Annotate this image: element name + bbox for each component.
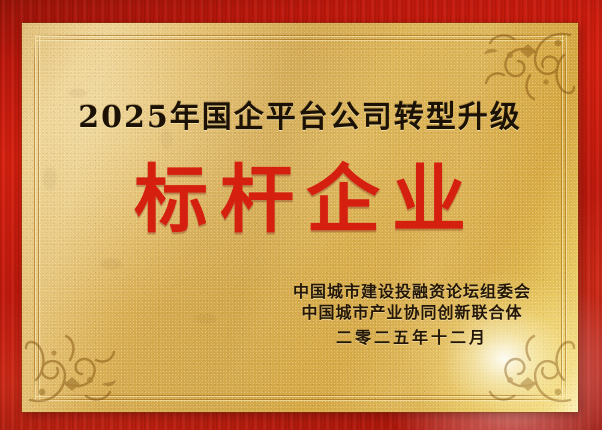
plaque-title: 2025年国企平台公司转型升级 [22, 92, 578, 136]
plaque-date: 二零二五年十二月 [293, 326, 531, 350]
issuer-organization-1: 中国城市建设投融资论坛组委会 [293, 281, 531, 302]
award-plaque: 2025年国企平台公司转型升级 标杆企业 中国城市建设投融资论坛组委会 中国城市… [0, 0, 602, 430]
plaque-award-title: 标杆企业 [22, 163, 578, 237]
plaque-signature-block: 中国城市建设投融资论坛组委会 中国城市产业协同创新联合体 二零二五年十二月 [293, 281, 531, 350]
issuer-organization-2: 中国城市产业协同创新联合体 [293, 302, 531, 323]
gold-plate: 2025年国企平台公司转型升级 标杆企业 中国城市建设投融资论坛组委会 中国城市… [22, 23, 578, 412]
plaque-content: 2025年国企平台公司转型升级 标杆企业 中国城市建设投融资论坛组委会 中国城市… [22, 23, 578, 412]
